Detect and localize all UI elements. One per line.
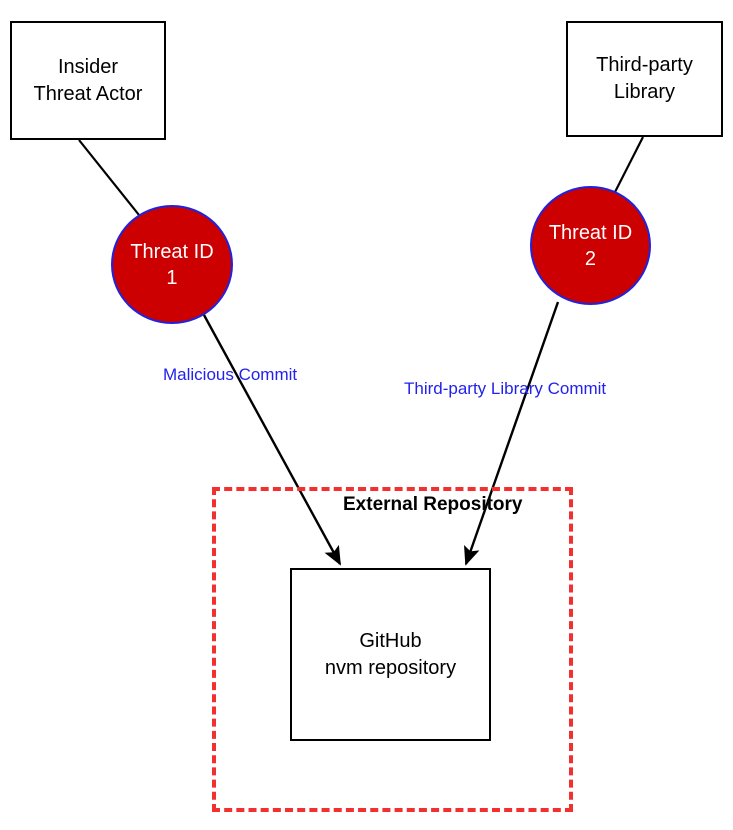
edge-label-third-party-library-commit: Third-party Library Commit <box>404 379 606 399</box>
edge-library-to-threat2 <box>614 137 643 194</box>
edge-insider-to-threat1 <box>79 140 139 215</box>
node-threat-id-1[interactable]: Threat ID 1 <box>111 205 233 324</box>
zone-external-repository-label: External Repository <box>343 494 523 516</box>
node-insider-threat-actor[interactable]: Insider Threat Actor <box>10 21 166 140</box>
node-third-party-library[interactable]: Third-party Library <box>566 21 723 137</box>
diagram-canvas: External Repository Insider Threat Actor… <box>0 0 733 830</box>
node-threat-id-2[interactable]: Threat ID 2 <box>530 186 651 305</box>
node-github-nvm-repository[interactable]: GitHub nvm repository <box>290 568 491 741</box>
edge-label-malicious-commit: Malicious Commit <box>163 365 297 385</box>
